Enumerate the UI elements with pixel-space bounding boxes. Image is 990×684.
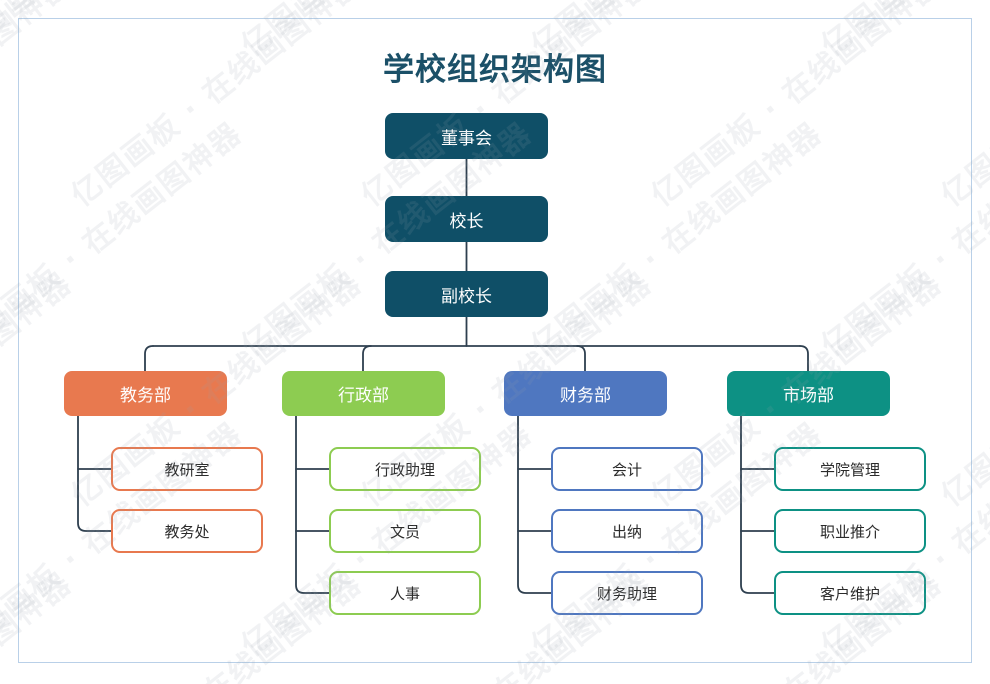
leaf-node-customer-service[interactable]: 客户维护 bbox=[774, 571, 926, 615]
leaf-node-hr[interactable]: 人事 bbox=[329, 571, 481, 615]
leaf-node-accountant-label: 会计 bbox=[612, 459, 642, 480]
leaf-node-career-promotion-label: 职业推介 bbox=[820, 521, 880, 542]
connector-spine-academic bbox=[78, 416, 111, 531]
leaf-node-finance-assistant-label: 财务助理 bbox=[597, 583, 657, 604]
leaf-node-career-promotion[interactable]: 职业推介 bbox=[774, 509, 926, 553]
leaf-node-cashier[interactable]: 出纳 bbox=[551, 509, 703, 553]
leaf-node-customer-service-label: 客户维护 bbox=[820, 583, 880, 604]
leaf-node-clerk-label: 文员 bbox=[390, 521, 420, 542]
exec-node-principal[interactable]: 校长 bbox=[385, 196, 548, 242]
leaf-node-finance-assistant[interactable]: 财务助理 bbox=[551, 571, 703, 615]
connector-spine-administration bbox=[296, 416, 329, 593]
connector-dept-drop-academic bbox=[145, 346, 153, 371]
exec-node-board[interactable]: 董事会 bbox=[385, 113, 548, 159]
leaf-node-admin-assistant-label: 行政助理 bbox=[375, 459, 435, 480]
dept-node-marketing-label: 市场部 bbox=[783, 381, 834, 406]
leaf-node-academic-office-label: 教务处 bbox=[164, 521, 209, 542]
dept-node-administration[interactable]: 行政部 bbox=[282, 371, 445, 416]
dept-node-finance-label: 财务部 bbox=[560, 381, 611, 406]
leaf-node-college-management-label: 学院管理 bbox=[820, 459, 880, 480]
leaf-node-accountant[interactable]: 会计 bbox=[551, 447, 703, 491]
dept-node-finance[interactable]: 财务部 bbox=[504, 371, 667, 416]
dept-node-academic[interactable]: 教务部 bbox=[64, 371, 227, 416]
leaf-node-cashier-label: 出纳 bbox=[612, 521, 642, 542]
leaf-node-admin-assistant[interactable]: 行政助理 bbox=[329, 447, 481, 491]
org-chart-canvas: 亿图画板 · 在线画图神器亿图画板 · 在线画图神器亿图画板 · 在线画图神器亿… bbox=[0, 0, 990, 684]
leaf-node-teaching-research-label: 教研室 bbox=[164, 459, 209, 480]
connector-spine-marketing bbox=[741, 416, 774, 593]
connector-dept-drop-finance bbox=[577, 346, 585, 371]
page-title: 学校组织架构图 bbox=[0, 44, 990, 89]
leaf-node-clerk[interactable]: 文员 bbox=[329, 509, 481, 553]
connector-spine-finance bbox=[518, 416, 551, 593]
exec-node-vprincipal[interactable]: 副校长 bbox=[385, 271, 548, 317]
exec-node-principal-label: 校长 bbox=[450, 207, 484, 232]
dept-node-marketing[interactable]: 市场部 bbox=[727, 371, 890, 416]
connector-dept-drop-administration bbox=[363, 346, 371, 371]
exec-node-board-label: 董事会 bbox=[441, 124, 492, 149]
leaf-node-academic-office[interactable]: 教务处 bbox=[111, 509, 263, 553]
dept-node-academic-label: 教务部 bbox=[120, 381, 171, 406]
exec-node-vprincipal-label: 副校长 bbox=[441, 282, 492, 307]
leaf-node-hr-label: 人事 bbox=[390, 583, 420, 604]
leaf-node-teaching-research[interactable]: 教研室 bbox=[111, 447, 263, 491]
dept-node-administration-label: 行政部 bbox=[338, 381, 389, 406]
leaf-node-college-management[interactable]: 学院管理 bbox=[774, 447, 926, 491]
connector-dept-drop-marketing bbox=[800, 346, 808, 371]
